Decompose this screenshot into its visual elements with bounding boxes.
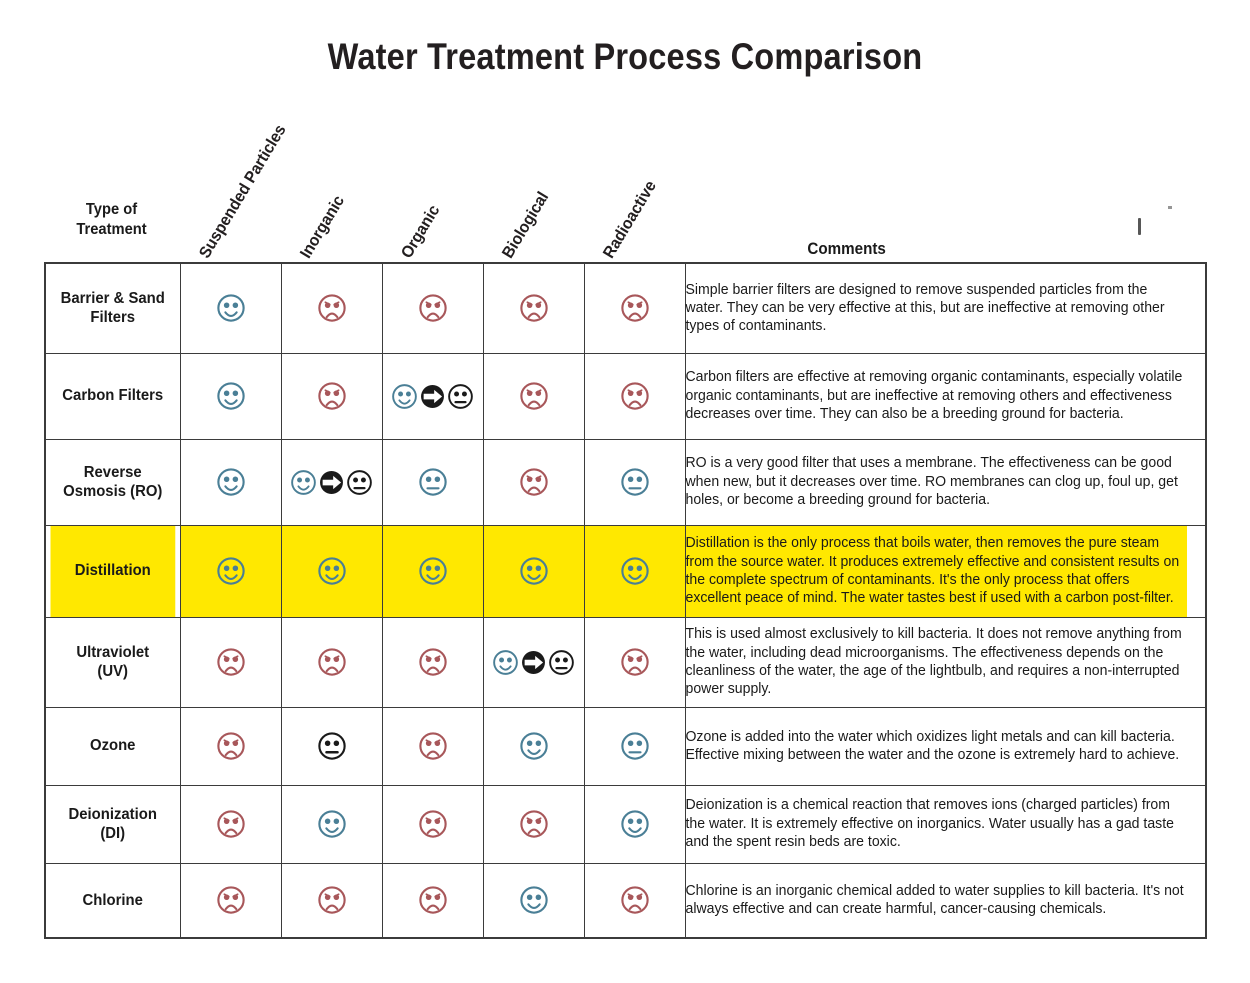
rating-cell-inorganic <box>281 707 382 785</box>
sad-face-icon <box>418 731 448 761</box>
table-row: Deionization(DI)Deionization is a chemic… <box>45 785 1206 863</box>
sad-face-icon <box>418 647 448 677</box>
rating-cell-biological <box>483 707 584 785</box>
sad-face-icon <box>418 293 448 323</box>
column-header-inorganic: Inorganic <box>296 192 348 262</box>
happy-face-icon <box>620 556 650 586</box>
rating-cell-inorganic <box>281 863 382 938</box>
sad-face-icon <box>519 381 549 411</box>
rating-cell-organic <box>382 353 483 439</box>
table-row: ReverseOsmosis (RO)RO is a very good fil… <box>45 439 1206 525</box>
happy-face-icon <box>290 469 317 496</box>
neutral-black-face-icon <box>548 649 575 676</box>
treatment-name-cell: Carbon Filters <box>50 353 176 439</box>
rating-cell-organic <box>382 263 483 353</box>
sad-face-icon <box>317 647 347 677</box>
sad-face-icon <box>519 293 549 323</box>
degradation-arrow-icon <box>319 470 344 495</box>
column-header-suspended-particles: Suspended Particles <box>195 122 290 262</box>
column-header-organic: Organic <box>397 202 443 262</box>
neutral-black-face-icon <box>317 731 347 761</box>
rating-cell-suspended-particles <box>180 353 281 439</box>
treatment-name-line1: Carbon Filters <box>51 386 175 405</box>
treatment-name-line1: Chlorine <box>51 891 175 910</box>
degradation-arrow-icon <box>521 650 546 675</box>
neutral-blue-face-icon <box>418 467 448 497</box>
treatment-name-line1: Barrier & Sand <box>51 289 175 308</box>
rating-cell-organic <box>382 525 483 617</box>
neutral-black-face-icon <box>346 469 373 496</box>
sad-face-icon <box>620 647 650 677</box>
rating-cell-inorganic <box>281 263 382 353</box>
sad-face-icon <box>519 467 549 497</box>
table-row: Ultraviolet(UV)This is used almost exclu… <box>45 617 1206 707</box>
column-header-type-of-treatment: Type of Treatment <box>49 200 173 239</box>
rating-cell-radioactive <box>584 707 685 785</box>
table-row: Carbon FiltersCarbon filters are effecti… <box>45 353 1206 439</box>
happy-face-icon <box>216 556 246 586</box>
sad-face-icon <box>216 731 246 761</box>
happy-face-icon <box>216 381 246 411</box>
type-of-treatment-line2: Treatment <box>49 220 173 240</box>
rating-cell-biological <box>483 439 584 525</box>
column-header-radioactive: Radioactive <box>599 178 660 262</box>
comment-cell: Ozone is added into the water which oxid… <box>685 707 1188 785</box>
treatment-name-cell: Ozone <box>50 707 176 785</box>
happy-face-icon <box>519 885 549 915</box>
page-title: Water Treatment Process Comparison <box>75 36 1175 78</box>
happy-face-icon <box>519 731 549 761</box>
treatment-name-cell: Deionization(DI) <box>50 785 176 863</box>
neutral-blue-face-icon <box>620 467 650 497</box>
sad-face-icon <box>620 885 650 915</box>
treatment-name-line2: Osmosis (RO) <box>51 482 175 501</box>
rating-cell-radioactive <box>584 617 685 707</box>
rating-cell-biological <box>483 353 584 439</box>
comment-cell: Deionization is a chemical reaction that… <box>685 785 1188 863</box>
comment-cell: Chlorine is an inorganic chemical added … <box>685 863 1188 938</box>
rating-cell-inorganic <box>281 439 382 525</box>
treatment-name-line1: Reverse <box>51 463 175 482</box>
treatment-name-line2: (DI) <box>51 824 175 843</box>
rating-cell-suspended-particles <box>180 785 281 863</box>
rating-cell-biological <box>483 617 584 707</box>
rating-cell-inorganic <box>281 617 382 707</box>
treatment-name-cell: ReverseOsmosis (RO) <box>50 439 176 525</box>
happy-face-icon <box>418 556 448 586</box>
rating-cell-biological <box>483 785 584 863</box>
treatment-name-line1: Deionization <box>51 805 175 824</box>
rating-cell-suspended-particles <box>180 439 281 525</box>
sad-face-icon <box>216 809 246 839</box>
table-row: OzoneOzone is added into the water which… <box>45 707 1206 785</box>
rating-cell-radioactive <box>584 439 685 525</box>
rating-cell-radioactive <box>584 785 685 863</box>
sad-face-icon <box>418 885 448 915</box>
rating-cell-radioactive <box>584 353 685 439</box>
rating-cell-biological <box>483 263 584 353</box>
neutral-blue-face-icon <box>620 731 650 761</box>
sad-face-icon <box>317 293 347 323</box>
rating-cell-organic <box>382 863 483 938</box>
rating-cell-organic <box>382 785 483 863</box>
rating-cell-suspended-particles <box>180 707 281 785</box>
happy-face-icon <box>216 467 246 497</box>
comment-cell: Simple barrier filters are designed to r… <box>685 263 1188 353</box>
rating-cell-suspended-particles <box>180 263 281 353</box>
sad-face-icon <box>317 885 347 915</box>
happy-face-icon <box>317 556 347 586</box>
treatment-name-line1: Distillation <box>51 561 175 580</box>
rating-cell-organic <box>382 707 483 785</box>
comment-cell: This is used almost exclusively to kill … <box>685 617 1188 707</box>
rating-cell-biological <box>483 525 584 617</box>
comment-cell: RO is a very good filter that uses a mem… <box>685 439 1188 525</box>
happy-face-icon <box>492 649 519 676</box>
neutral-black-face-icon <box>447 383 474 410</box>
column-header-biological: Biological <box>498 189 552 262</box>
degradation-arrow-icon <box>420 384 445 409</box>
table-row: Barrier & SandFiltersSimple barrier filt… <box>45 263 1206 353</box>
treatment-name-line1: Ozone <box>51 736 175 755</box>
sad-face-icon <box>216 647 246 677</box>
column-header-comments: Comments <box>807 240 885 259</box>
treatment-name-cell: Barrier & SandFilters <box>50 263 176 353</box>
sad-face-icon <box>216 885 246 915</box>
happy-face-icon <box>216 293 246 323</box>
treatment-name-cell: Ultraviolet(UV) <box>50 617 176 707</box>
sad-face-icon <box>620 381 650 411</box>
rating-cell-radioactive <box>584 863 685 938</box>
happy-face-icon <box>519 556 549 586</box>
sad-face-icon <box>418 809 448 839</box>
rating-cell-radioactive <box>584 263 685 353</box>
table-body: Barrier & SandFiltersSimple barrier filt… <box>45 263 1206 938</box>
rating-cell-inorganic <box>281 353 382 439</box>
happy-face-icon <box>391 383 418 410</box>
rating-cell-radioactive <box>584 525 685 617</box>
rating-cell-suspended-particles <box>180 617 281 707</box>
comment-cell: Distillation is the only process that bo… <box>685 525 1188 617</box>
treatment-name-line2: (UV) <box>51 662 175 681</box>
sad-face-icon <box>620 293 650 323</box>
rating-cell-inorganic <box>281 525 382 617</box>
rating-cell-organic <box>382 439 483 525</box>
comparison-table: Barrier & SandFiltersSimple barrier filt… <box>44 262 1207 939</box>
happy-face-icon <box>620 809 650 839</box>
happy-face-icon <box>317 809 347 839</box>
treatment-name-line2: Filters <box>51 308 175 327</box>
comment-cell: Carbon filters are effective at removing… <box>685 353 1188 439</box>
rating-cell-suspended-particles <box>180 863 281 938</box>
treatment-name-cell: Chlorine <box>50 863 176 938</box>
treatment-name-line1: Ultraviolet <box>51 643 175 662</box>
sad-face-icon <box>317 381 347 411</box>
rating-cell-suspended-particles <box>180 525 281 617</box>
type-of-treatment-line1: Type of <box>49 200 173 220</box>
rating-cell-organic <box>382 617 483 707</box>
table-row: DistillationDistillation is the only pro… <box>45 525 1206 617</box>
table-header-zone: Type of Treatment Suspended ParticlesIno… <box>44 110 1206 262</box>
table-row: ChlorineChlorine is an inorganic chemica… <box>45 863 1206 938</box>
rating-cell-biological <box>483 863 584 938</box>
rating-cell-inorganic <box>281 785 382 863</box>
treatment-name-cell: Distillation <box>50 525 176 617</box>
sad-face-icon <box>519 809 549 839</box>
